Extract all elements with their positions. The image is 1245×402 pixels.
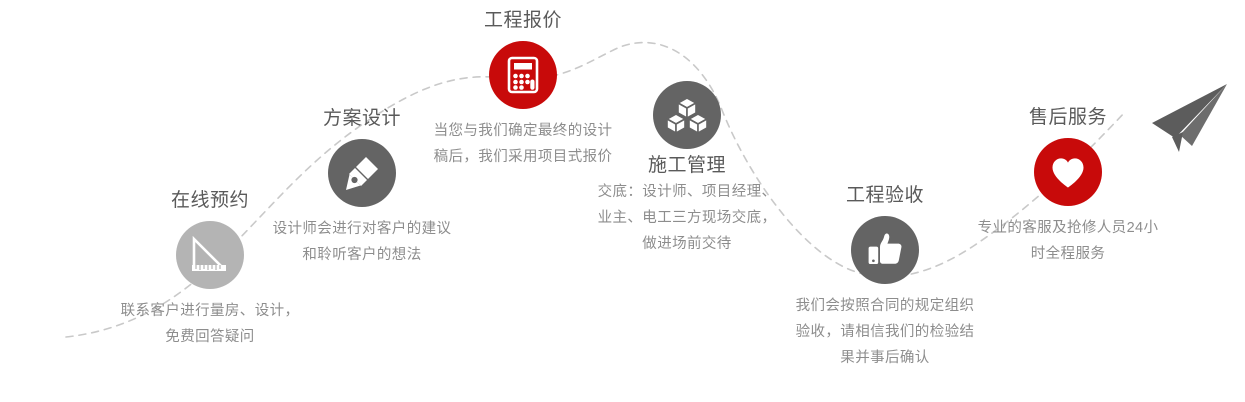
- step-project-quotation[interactable]: 工程报价 当您与我们确定最终的设计稿后，我们采用项目式报价: [428, 8, 618, 170]
- step-description: 交底：设计师、项目经理、业主、电工三方现场交底，做进场前交待: [592, 179, 782, 257]
- step-construction-management[interactable]: 施工管理 交底：设计师、项目经理、业主、电工三方现场交底，做进场前交待: [592, 81, 782, 257]
- step-after-sales-service[interactable]: 售后服务 专业的客服及抢修人员24小时全程服务: [973, 105, 1163, 267]
- calculator-icon: [489, 41, 557, 109]
- thumbs-up-icon: [851, 216, 919, 284]
- step-description: 当您与我们确定最终的设计稿后，我们采用项目式报价: [428, 118, 618, 170]
- step-project-acceptance[interactable]: 工程验收 我们会按照合同的规定组织验收，请相信我们的检验结果并事后确认: [790, 183, 980, 371]
- set-square-ruler-icon: [176, 221, 244, 289]
- boxes-blocks-icon: [653, 81, 721, 149]
- step-description: 专业的客服及抢修人员24小时全程服务: [973, 215, 1163, 267]
- step-description: 设计师会进行对客户的建议和聆听客户的想法: [267, 216, 457, 268]
- paper-plane-icon: [1152, 84, 1227, 152]
- step-description: 我们会按照合同的规定组织验收，请相信我们的检验结果并事后确认: [790, 293, 980, 371]
- step-description: 联系客户进行量房、设计，免费回答疑问: [115, 298, 305, 350]
- fountain-pen-icon: [328, 139, 396, 207]
- step-title: 工程报价: [428, 8, 618, 34]
- heart-icon: [1034, 138, 1102, 206]
- infographic-canvas: 在线预约 联系客户进行量房、设计，免费回答疑问: [0, 0, 1245, 402]
- step-title: 工程验收: [790, 183, 980, 209]
- step-title: 施工管理: [592, 153, 782, 179]
- step-title: 售后服务: [973, 105, 1163, 131]
